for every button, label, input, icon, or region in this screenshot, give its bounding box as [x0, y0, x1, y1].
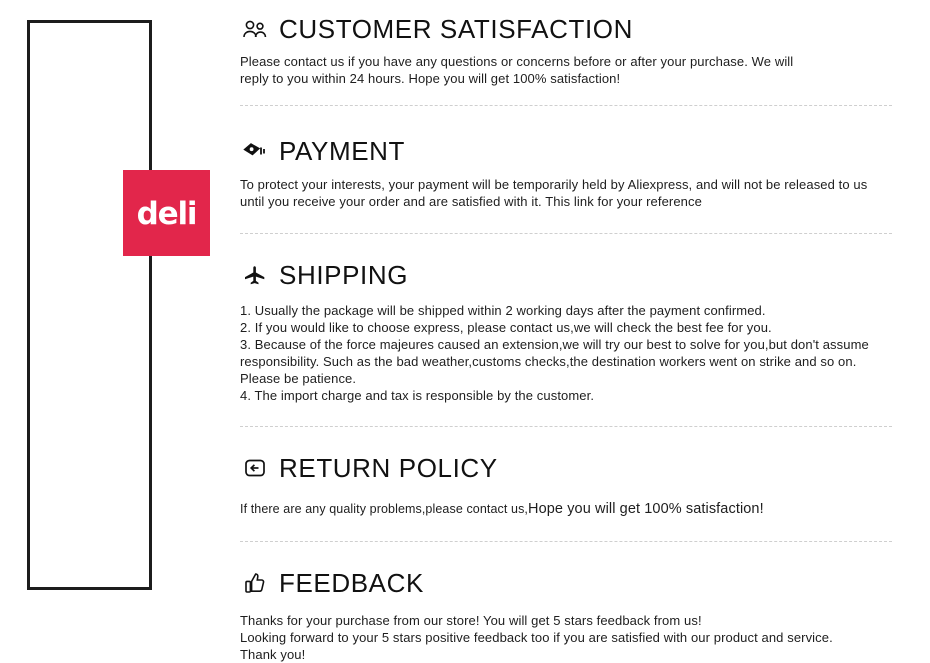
brand-logo: deli	[123, 170, 210, 256]
body-line: Please contact us if you have any questi…	[240, 53, 892, 70]
section-title: SHIPPING	[279, 260, 408, 290]
section-title: PAYMENT	[279, 136, 405, 166]
section-body: 1. Usually the package will be shipped w…	[240, 302, 892, 404]
section-header: SHIPPING	[240, 260, 892, 290]
section-title: CUSTOMER SATISFACTION	[279, 14, 633, 44]
content-column: CUSTOMER SATISFACTION Please contact us …	[240, 14, 892, 663]
section-shipping: SHIPPING 1. Usually the package will be …	[240, 260, 892, 404]
body-line: 3. Because of the force majeures caused …	[240, 336, 892, 353]
brand-logo-text: deli	[137, 199, 197, 230]
section-body: If there are any quality problems,please…	[240, 500, 892, 518]
body-line: Thank you!	[240, 646, 892, 663]
users-icon	[240, 15, 270, 43]
brand-frame: deli	[27, 20, 152, 590]
section-title: RETURN POLICY	[279, 453, 498, 483]
section-customer-satisfaction: CUSTOMER SATISFACTION Please contact us …	[240, 14, 892, 87]
section-header: RETURN POLICY	[240, 453, 892, 483]
section-title: FEEDBACK	[279, 568, 424, 598]
section-body: Please contact us if you have any questi…	[240, 53, 892, 87]
section-divider	[240, 233, 892, 234]
section-body: Thanks for your purchase from our store!…	[240, 612, 892, 663]
thumbs-up-icon	[240, 569, 270, 597]
section-header: PAYMENT	[240, 136, 892, 166]
return-arrow-icon	[240, 454, 270, 482]
body-line: 1. Usually the package will be shipped w…	[240, 302, 892, 319]
section-return-policy: RETURN POLICY If there are any quality p…	[240, 453, 892, 518]
body-line: until you receive your order and are sat…	[240, 193, 892, 210]
section-header: CUSTOMER SATISFACTION	[240, 14, 892, 44]
body-line: If there are any quality problems,please…	[240, 500, 892, 518]
airplane-icon	[240, 261, 270, 289]
body-line: 2. If you would like to choose express, …	[240, 319, 892, 336]
section-divider	[240, 426, 892, 427]
money-icon	[240, 137, 270, 165]
body-line-part-1: If there are any quality problems,please…	[240, 502, 528, 516]
body-line: Thanks for your purchase from our store!…	[240, 612, 892, 629]
section-payment: PAYMENT To protect your interests, your …	[240, 136, 892, 210]
body-line: responsibility. Such as the bad weather,…	[240, 353, 892, 370]
section-divider	[240, 541, 892, 542]
body-line-part-2: Hope you will get 100% satisfaction!	[528, 501, 764, 517]
body-line: 4. The import charge and tax is responsi…	[240, 387, 892, 404]
section-divider	[240, 105, 892, 106]
body-line: reply to you within 24 hours. Hope you w…	[240, 70, 892, 87]
body-line: To protect your interests, your payment …	[240, 176, 892, 193]
body-line: Looking forward to your 5 stars positive…	[240, 629, 892, 646]
section-header: FEEDBACK	[240, 568, 892, 598]
section-feedback: FEEDBACK Thanks for your purchase from o…	[240, 568, 892, 663]
info-banner-page: deli CUSTOMER SATISFACTION Please contac…	[0, 0, 930, 610]
body-line: Please be patience.	[240, 370, 892, 387]
section-body: To protect your interests, your payment …	[240, 176, 892, 210]
